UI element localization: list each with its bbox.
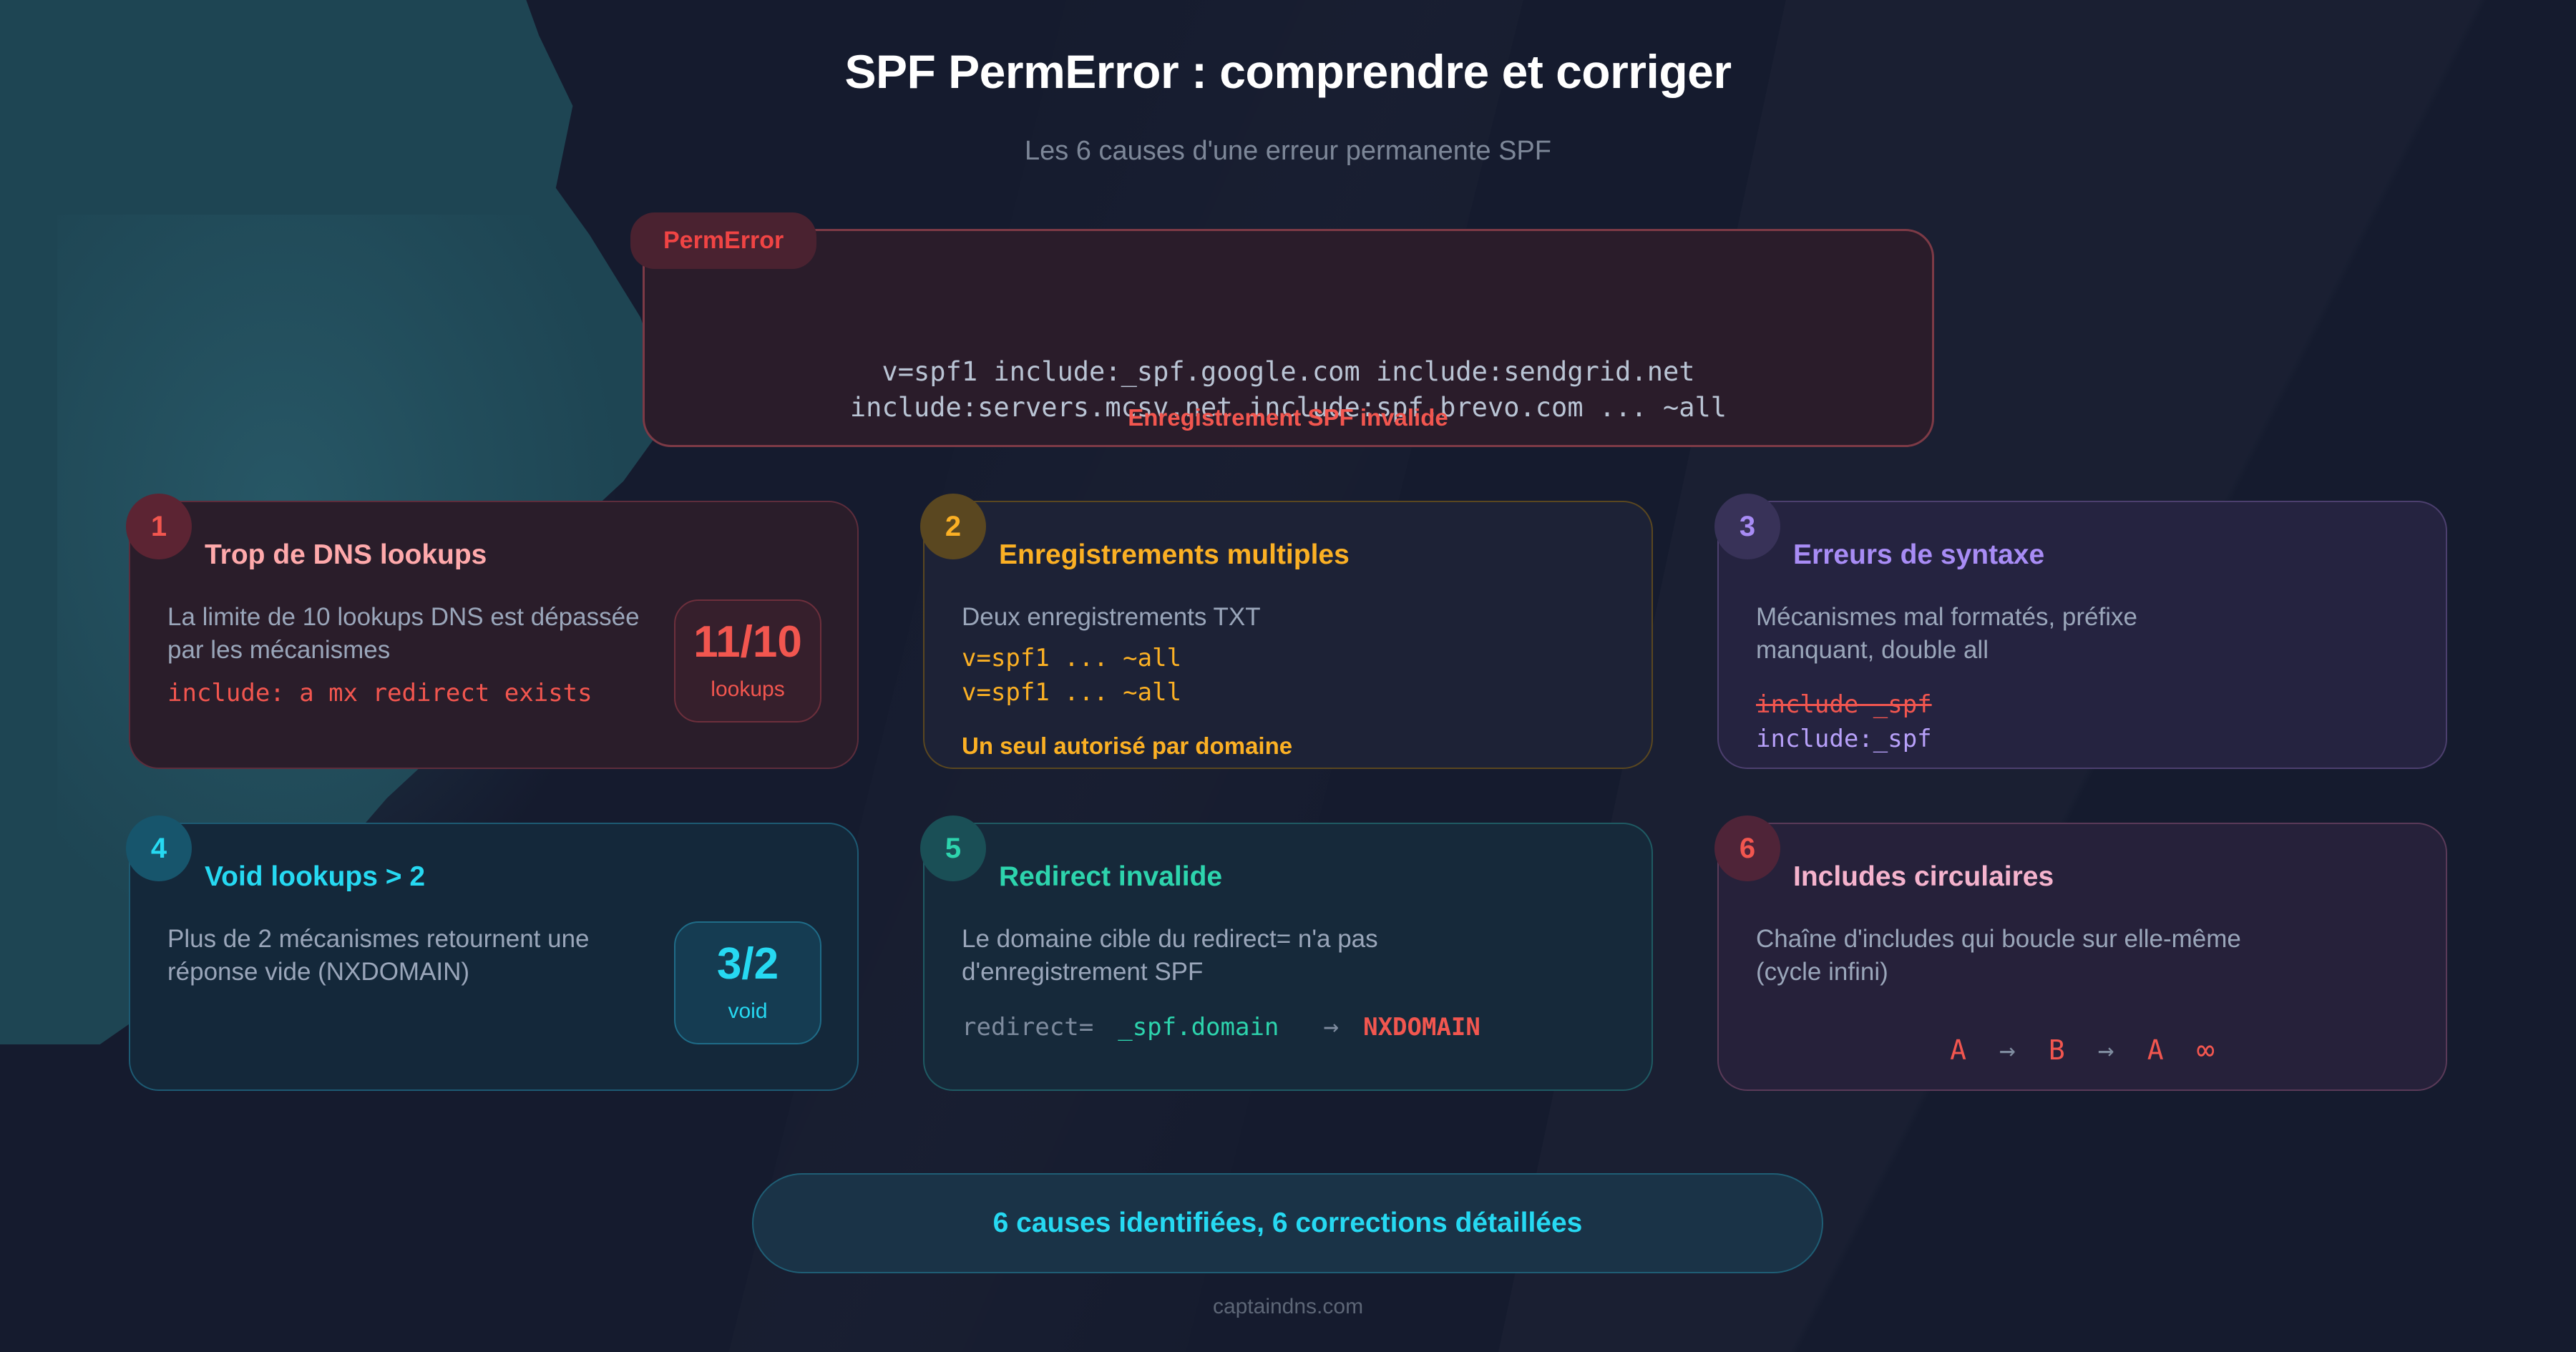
- cause-desc-4: Plus de 2 mécanismes retournent une répo…: [167, 923, 668, 988]
- cause-header-3: Erreurs de syntaxe: [1793, 535, 2409, 575]
- cause-badge-4: 4: [126, 815, 192, 881]
- cause-mono-3-invalid: include _spf: [1756, 687, 2409, 722]
- cause-body-5: Le domaine cible du redirect= n'a pas d'…: [962, 923, 1614, 1042]
- cause-mono-3-valid: include:_spf: [1756, 722, 2409, 756]
- cause-card-6[interactable]: 6 Includes circulaires Chaîne d'includes…: [1717, 823, 2447, 1091]
- arrow-right-icon: →: [2098, 1034, 2114, 1066]
- circular-include-diagram: A → B → A ∞: [1756, 1032, 2409, 1067]
- cause-title-5: Redirect invalide: [999, 861, 1222, 893]
- cause-title-2: Enregistrements multiples: [999, 539, 1350, 571]
- stat-value-lookups: 11/10: [693, 620, 802, 665]
- spf-record-line-1: v=spf1 include:_spf.google.com include:s…: [673, 354, 1903, 390]
- cause-card-2[interactable]: 2 Enregistrements multiples Deux enregis…: [923, 501, 1653, 769]
- cause-header-5: Redirect invalide: [999, 857, 1614, 897]
- cause-card-1[interactable]: 1 Trop de DNS lookups La limite de 10 lo…: [129, 501, 859, 769]
- stat-label-void: void: [728, 999, 767, 1024]
- arrow-right-icon: →: [1323, 1012, 1339, 1042]
- stat-box-void: 3/2 void: [674, 921, 821, 1044]
- cause-body-6: Chaîne d'includes qui boucle sur elle-mê…: [1756, 923, 2409, 1067]
- redirect-key: redirect=: [962, 1013, 1093, 1042]
- cause-card-3[interactable]: 3 Erreurs de syntaxe Mécanismes mal form…: [1717, 501, 2447, 769]
- cause-note-2: Un seul autorisé par domaine: [962, 733, 1614, 760]
- cause-badge-1: 1: [126, 494, 192, 559]
- cause-header-1: Trop de DNS lookups: [205, 535, 820, 575]
- infinity-icon: ∞: [2197, 1032, 2215, 1067]
- infographic-content: SPF PermError : comprendre et corriger L…: [0, 0, 2576, 1352]
- cause-header-2: Enregistrements multiples: [999, 535, 1614, 575]
- cause-badge-2: 2: [920, 494, 986, 559]
- cause-badge-5: 5: [920, 815, 986, 881]
- stat-value-void: 3/2: [717, 942, 779, 986]
- cause-desc-5: Le domaine cible du redirect= n'a pas d'…: [962, 923, 1463, 988]
- permerror-note: Enregistrement SPF invalide: [0, 404, 2576, 431]
- arrow-right-icon: →: [1999, 1034, 2016, 1066]
- cycle-node-a1: A: [1950, 1034, 1966, 1066]
- cause-title-6: Includes circulaires: [1793, 861, 2054, 893]
- redirect-result: NXDOMAIN: [1363, 1013, 1480, 1042]
- cta-label: 6 causes identifiées, 6 corrections déta…: [993, 1208, 1583, 1239]
- cause-badge-3: 3: [1714, 494, 1780, 559]
- cause-card-4[interactable]: 4 Void lookups > 2 Plus de 2 mécanismes …: [129, 823, 859, 1091]
- site-attribution: captaindns.com: [0, 1295, 2576, 1319]
- cause-badge-6: 6: [1714, 815, 1780, 881]
- cause-title-4: Void lookups > 2: [205, 861, 425, 893]
- causes-grid: 1 Trop de DNS lookups La limite de 10 lo…: [129, 501, 2447, 1091]
- cause-body-2: Deux enregistrements TXT v=spf1 ... ~all…: [962, 601, 1614, 760]
- cause-body-3: Mécanismes mal formatés, préfixe manquan…: [1756, 601, 2409, 757]
- cycle-node-b: B: [2049, 1034, 2065, 1066]
- page-subtitle: Les 6 causes d'une erreur permanente SPF: [0, 136, 2576, 167]
- redirect-target: _spf.domain: [1118, 1013, 1279, 1042]
- stat-box-lookups: 11/10 lookups: [674, 599, 821, 722]
- cause-header-4: Void lookups > 2: [205, 857, 820, 897]
- cause-title-3: Erreurs de syntaxe: [1793, 539, 2044, 571]
- cycle-node-a2: A: [2147, 1034, 2164, 1066]
- cause-mono-2-line-2: v=spf1 ... ~all: [962, 675, 1614, 710]
- cta-banner[interactable]: 6 causes identifiées, 6 corrections déta…: [752, 1173, 1823, 1273]
- permerror-badge: PermError: [630, 212, 816, 269]
- cause-desc-1: La limite de 10 lookups DNS est dépassée…: [167, 601, 668, 666]
- redirect-trace-row: redirect= _spf.domain → NXDOMAIN: [962, 1012, 1614, 1042]
- cause-desc-3: Mécanismes mal formatés, préfixe manquan…: [1756, 601, 2200, 666]
- cause-mono-2-line-1: v=spf1 ... ~all: [962, 641, 1614, 675]
- cause-title-1: Trop de DNS lookups: [205, 539, 487, 571]
- cause-desc-6: Chaîne d'includes qui boucle sur elle-mê…: [1756, 923, 2257, 988]
- cause-card-5[interactable]: 5 Redirect invalide Le domaine cible du …: [923, 823, 1653, 1091]
- cause-header-6: Includes circulaires: [1793, 857, 2409, 897]
- stat-label-lookups: lookups: [711, 677, 784, 702]
- cause-desc-2: Deux enregistrements TXT: [962, 601, 1491, 634]
- page-title: SPF PermError : comprendre et corriger: [0, 44, 2576, 99]
